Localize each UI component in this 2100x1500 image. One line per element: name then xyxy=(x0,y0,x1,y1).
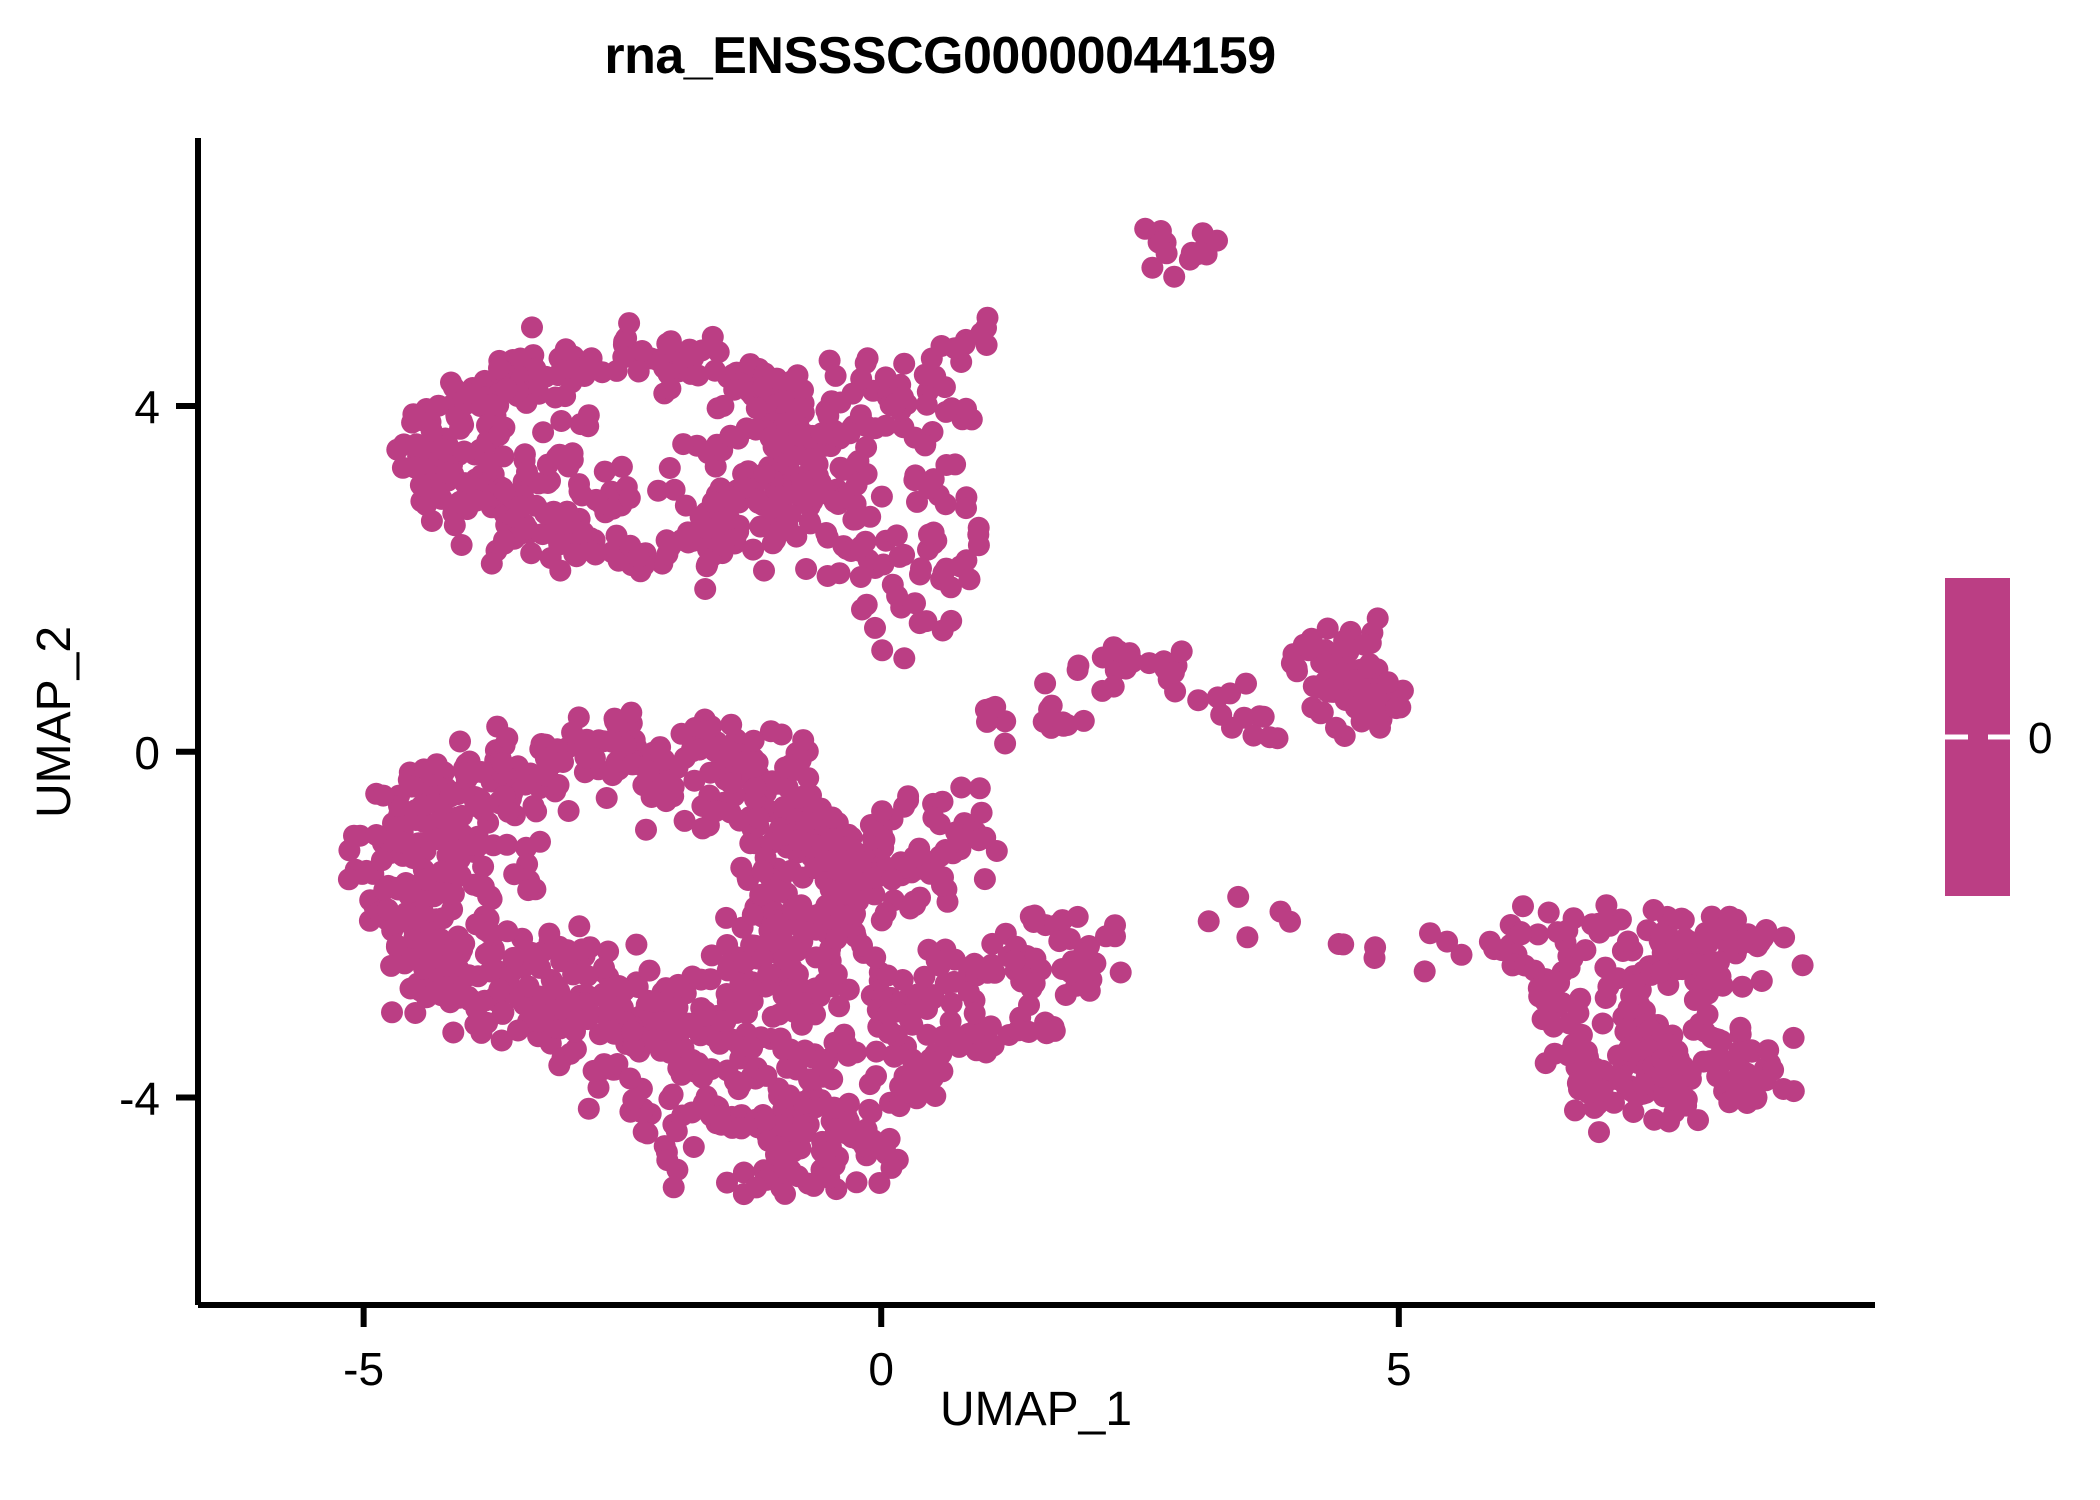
scatter-point xyxy=(789,425,811,447)
scatter-point xyxy=(1666,1074,1688,1096)
scatter-point xyxy=(971,802,993,824)
scatter-point xyxy=(1034,672,1056,694)
scatter-point xyxy=(768,1003,790,1025)
scatter-point xyxy=(662,1084,684,1106)
scatter-point xyxy=(683,1136,705,1158)
scatter-point xyxy=(1564,1099,1586,1121)
scatter-point xyxy=(1163,662,1185,684)
scatter-point xyxy=(373,879,395,901)
scatter-point xyxy=(727,1073,749,1095)
scatter-point xyxy=(1597,976,1619,998)
scatter-point xyxy=(1674,928,1696,950)
scatter-point xyxy=(719,425,741,447)
scatter-point xyxy=(569,480,591,502)
scatter-point xyxy=(1725,1084,1747,1106)
scatter-point xyxy=(546,447,568,469)
figure-root: rna_ENSSSCG00000044159 -404 -505 UMAP_1 … xyxy=(0,0,2100,1500)
scatter-point xyxy=(1755,919,1777,941)
scatter-point xyxy=(1588,1121,1610,1143)
y-axis-tick-labels: -404 xyxy=(119,381,160,1125)
scatter-point xyxy=(1577,1082,1599,1104)
scatter-point xyxy=(846,1171,868,1193)
scatter-point xyxy=(968,829,990,851)
scatter-point xyxy=(555,338,577,360)
scatter-point xyxy=(963,953,985,975)
scatter-point xyxy=(1033,711,1055,733)
scatter-point xyxy=(935,401,957,423)
scatter-point xyxy=(463,874,485,896)
scatter-point xyxy=(529,831,551,853)
scatter-point xyxy=(892,969,914,991)
scatter-point xyxy=(1055,984,1077,1006)
scatter-point xyxy=(638,760,660,782)
scatter-point xyxy=(1018,994,1040,1016)
scatter-point xyxy=(934,376,956,398)
scatter-point xyxy=(443,883,465,905)
scatter-point xyxy=(699,762,721,784)
scatter-point xyxy=(1385,697,1407,719)
scatter-point xyxy=(1656,1055,1678,1077)
scatter-point xyxy=(687,365,709,387)
scatter-point xyxy=(1773,1078,1795,1100)
scatter-point xyxy=(496,834,518,856)
scatter-point xyxy=(959,568,981,590)
scatter-point xyxy=(356,860,378,882)
scatter-point xyxy=(663,1176,685,1198)
scatter-point xyxy=(1024,905,1046,927)
scatter-point xyxy=(909,612,931,634)
scatter-point xyxy=(955,497,977,519)
scatter-point xyxy=(532,421,554,443)
scatter-point xyxy=(935,493,957,515)
scatter-point xyxy=(824,491,846,513)
scatter-point xyxy=(550,410,572,432)
scatter-point xyxy=(696,553,718,575)
scatter-point xyxy=(828,995,850,1017)
scatter-point xyxy=(1359,653,1381,675)
scatter-point xyxy=(1746,1086,1768,1108)
scatter-point xyxy=(386,439,408,461)
scatter-point xyxy=(1044,1020,1066,1042)
scatter-point xyxy=(785,1059,807,1081)
scatter-point xyxy=(405,907,427,929)
scatter-point xyxy=(421,510,443,532)
scatter-point xyxy=(924,1085,946,1107)
scatter-point xyxy=(667,997,689,1019)
scatter-point xyxy=(496,378,518,400)
scatter-point xyxy=(494,480,516,502)
scatter-point xyxy=(431,861,453,883)
scatter-point xyxy=(1243,725,1265,747)
scatter-point xyxy=(1067,655,1089,677)
scatter-point xyxy=(935,839,957,861)
scatter-point xyxy=(574,365,596,387)
scatter-point xyxy=(643,990,665,1012)
scatter-point xyxy=(702,326,724,348)
scatter-point xyxy=(893,647,915,669)
scatter-point xyxy=(839,883,861,905)
scatter-point xyxy=(787,759,809,781)
scatter-point xyxy=(365,824,387,846)
scatter-point xyxy=(496,727,518,749)
scatter-point xyxy=(400,978,422,1000)
umap-scatter-plot: -404 -505 UMAP_1 UMAP_2 0 xyxy=(0,0,2100,1500)
scatter-point xyxy=(931,335,953,357)
scatter-point xyxy=(1512,895,1534,917)
scatter-point xyxy=(969,777,991,799)
legend-tick-label: 0 xyxy=(2028,714,2052,763)
scatter-point xyxy=(855,352,877,374)
scatter-point xyxy=(448,491,470,513)
scatter-point xyxy=(584,747,606,769)
scatter-point xyxy=(510,496,532,518)
scatter-point xyxy=(538,923,560,945)
scatter-point xyxy=(1567,1002,1589,1024)
scatter-point xyxy=(520,542,542,564)
scatter-point xyxy=(893,353,915,375)
scatter-point xyxy=(457,383,479,405)
scatter-point xyxy=(745,1176,767,1198)
scatter-point xyxy=(770,1028,792,1050)
scatter-point xyxy=(975,1042,997,1064)
scatter-point xyxy=(1723,933,1745,955)
scatter-point xyxy=(811,422,833,444)
scatter-point xyxy=(381,1001,403,1023)
scatter-point xyxy=(461,989,483,1011)
scatter-point xyxy=(577,1008,599,1030)
scatter-point xyxy=(1362,683,1384,705)
scatter-point xyxy=(901,1048,923,1070)
scatter-point xyxy=(372,785,394,807)
scatter-point xyxy=(846,474,868,496)
scatter-point xyxy=(401,776,423,798)
scatter-point xyxy=(1325,717,1347,739)
scatter-point xyxy=(696,517,718,539)
scatter-point xyxy=(839,422,861,444)
x-axis-ticks xyxy=(364,1305,1399,1327)
scatter-point xyxy=(1592,1013,1614,1035)
scatter-point xyxy=(514,774,536,796)
scatter-point xyxy=(941,992,963,1014)
scatter-point xyxy=(1731,976,1753,998)
scatter-point xyxy=(1134,218,1156,240)
scatter-point xyxy=(535,747,557,769)
scatter-point xyxy=(707,397,729,419)
scatter-point xyxy=(1658,1111,1680,1133)
scatter-point xyxy=(916,394,938,416)
x-axis-tick-labels: -505 xyxy=(343,1343,1411,1395)
scatter-point xyxy=(826,963,848,985)
scatter-point xyxy=(1171,640,1193,662)
scatter-point xyxy=(789,397,811,419)
scatter-point xyxy=(889,546,911,568)
scatter-point xyxy=(619,1068,641,1090)
scatter-point xyxy=(507,1020,529,1042)
scatter-point xyxy=(533,1004,555,1026)
scatter-point xyxy=(659,457,681,479)
scatter-point xyxy=(488,357,510,379)
scatter-point xyxy=(619,487,641,509)
scatter-point xyxy=(635,819,657,841)
scatter-point xyxy=(877,1003,899,1025)
scatter-point xyxy=(525,800,547,822)
scatter-point xyxy=(715,907,737,929)
scatter-point xyxy=(871,800,893,822)
scatter-point xyxy=(1436,931,1458,953)
scatter-point xyxy=(488,979,510,1001)
scatter-point xyxy=(1479,931,1501,953)
scatter-point xyxy=(1544,1043,1566,1065)
scatter-point xyxy=(720,772,742,794)
scatter-point xyxy=(859,506,881,528)
scatter-point xyxy=(453,933,475,955)
scatter-point xyxy=(795,558,817,580)
scatter-point xyxy=(1609,1069,1631,1091)
scatter-point xyxy=(753,560,775,582)
scatter-point xyxy=(1110,962,1132,984)
x-axis-title: UMAP_1 xyxy=(940,1383,1132,1436)
scatter-point xyxy=(424,981,446,1003)
scatter-point xyxy=(1332,933,1354,955)
x-axis-tick-label: 0 xyxy=(868,1343,894,1395)
scatter-point xyxy=(781,370,803,392)
scatter-point xyxy=(764,529,786,551)
scatter-point xyxy=(1556,920,1578,942)
scatter-point xyxy=(410,474,432,496)
scatter-point xyxy=(1187,689,1209,711)
scatter-point xyxy=(918,524,940,546)
scatter-point xyxy=(518,975,540,997)
scatter-point xyxy=(804,485,826,507)
scatter-point xyxy=(659,378,681,400)
scatter-point xyxy=(1623,975,1645,997)
scatter-point xyxy=(468,795,490,817)
scatter-point xyxy=(1364,947,1386,969)
scatter-point xyxy=(413,958,435,980)
y-axis-tick-label: -4 xyxy=(119,1073,160,1125)
scatter-point xyxy=(1729,1017,1751,1039)
scatter-point xyxy=(878,1022,900,1044)
scatter-point xyxy=(493,529,515,551)
scatter-point xyxy=(742,904,764,926)
scatter-point xyxy=(1301,628,1323,650)
scatter-point xyxy=(903,891,925,913)
scatter-point xyxy=(1024,972,1046,994)
scatter-point xyxy=(1619,1036,1641,1058)
scatter-point xyxy=(916,998,938,1020)
scatter-point xyxy=(833,1121,855,1143)
scatter-point xyxy=(578,1098,600,1120)
scatter-point xyxy=(766,1136,788,1158)
scatter-point xyxy=(871,909,893,931)
scatter-point xyxy=(622,1089,644,1111)
scatter-point xyxy=(864,617,886,639)
scatter-point xyxy=(1687,1109,1709,1131)
scatter-point xyxy=(1104,914,1126,936)
scatter-point xyxy=(1581,913,1603,935)
scatter-point xyxy=(584,544,606,566)
scatter-point xyxy=(1618,998,1640,1020)
scatter-point xyxy=(1673,909,1695,931)
scatter-point xyxy=(671,1019,693,1041)
scatter-point xyxy=(742,539,764,561)
scatter-point xyxy=(426,753,448,775)
scatter-point xyxy=(497,801,519,823)
scatter-point xyxy=(411,795,433,817)
scatter-point xyxy=(1320,678,1342,700)
scatter-point xyxy=(1141,257,1163,279)
scatter-point xyxy=(871,639,893,661)
scatter-point xyxy=(517,879,539,901)
scatter-point xyxy=(1179,249,1201,271)
scatter-point xyxy=(442,1022,464,1044)
scatter-point xyxy=(864,417,886,439)
scatter-point xyxy=(1004,950,1026,972)
scatter-point xyxy=(910,557,932,579)
scatter-point xyxy=(753,463,775,485)
scatter-point xyxy=(815,895,837,917)
scatter-point xyxy=(1164,681,1186,703)
scatter-point xyxy=(906,491,928,513)
scatter-point xyxy=(720,714,742,736)
scatter-point xyxy=(705,800,727,822)
scatter-point xyxy=(548,533,570,555)
scatter-point xyxy=(745,777,767,799)
scatter-point xyxy=(837,1045,859,1067)
scatter-point xyxy=(897,789,919,811)
scatter-point xyxy=(571,938,593,960)
scatter-point xyxy=(1122,651,1144,673)
scatter-point xyxy=(650,1040,672,1062)
scatter-point xyxy=(730,1117,752,1139)
scatter-point xyxy=(886,585,908,607)
scatter-point xyxy=(782,898,804,920)
scatter-point xyxy=(546,976,568,998)
scatter-point xyxy=(825,365,847,387)
scatter-point xyxy=(449,731,471,753)
scatter-point xyxy=(401,412,423,434)
scatter-point xyxy=(1367,607,1389,629)
scatter-point xyxy=(388,831,410,853)
scatter-point xyxy=(447,840,469,862)
scatter-point xyxy=(1286,657,1308,679)
scatter-point xyxy=(1792,954,1814,976)
scatter-point xyxy=(521,316,543,338)
scatter-point xyxy=(886,524,908,546)
scatter-point xyxy=(694,578,716,600)
scatter-point xyxy=(1253,706,1275,728)
scatter-point xyxy=(974,868,996,890)
scatter-point xyxy=(1723,1050,1745,1072)
scatter-point xyxy=(625,934,647,956)
scatter-point xyxy=(746,398,768,420)
scatter-point xyxy=(1576,1041,1598,1063)
scatter-point xyxy=(593,1053,615,1075)
scatter-point xyxy=(1603,1092,1625,1114)
x-axis-tick-label: 5 xyxy=(1386,1343,1412,1395)
scatter-point xyxy=(975,699,997,721)
scatter-point xyxy=(611,456,633,478)
scatter-point xyxy=(712,534,734,556)
scatter-point xyxy=(924,1052,946,1074)
scatter-point xyxy=(449,418,471,440)
scatter-point xyxy=(1643,899,1665,921)
scatter-point xyxy=(1353,634,1375,656)
scatter-point xyxy=(1617,931,1639,953)
scatter-point xyxy=(618,312,640,334)
scatter-point xyxy=(343,825,365,847)
scatter-point xyxy=(1548,972,1570,994)
scatter-point xyxy=(1538,902,1560,924)
scatter-point xyxy=(677,521,699,543)
scatter-point xyxy=(714,1011,736,1033)
scatter-point xyxy=(950,1033,972,1055)
scatter-point xyxy=(600,999,622,1021)
scatter-point xyxy=(850,566,872,588)
scatter-point xyxy=(955,398,977,420)
scatter-point xyxy=(914,434,936,456)
scatter-point xyxy=(919,863,941,885)
scatter-point xyxy=(695,1005,717,1027)
scatter-point xyxy=(787,787,809,809)
scatter-point xyxy=(671,723,693,745)
scatter-point xyxy=(481,553,503,575)
scatter-point xyxy=(1683,1019,1705,1041)
scatter-point xyxy=(732,751,754,773)
scatter-point xyxy=(769,486,791,508)
scatter-point xyxy=(437,462,459,484)
scatter-point xyxy=(826,928,848,950)
scatter-point xyxy=(1073,710,1095,732)
scatter-point xyxy=(964,1002,986,1024)
scatter-point xyxy=(1018,1021,1040,1043)
scatter-point xyxy=(754,1110,776,1132)
scatter-point xyxy=(1024,948,1046,970)
scatter-point xyxy=(451,534,473,556)
scatter-point xyxy=(923,468,945,490)
scatter-point xyxy=(664,479,686,501)
y-axis-tick-label: 0 xyxy=(134,727,160,779)
scatter-point xyxy=(926,950,948,972)
y-axis-tick-label: 4 xyxy=(134,381,160,433)
scatter-point xyxy=(674,810,696,832)
scatter-point xyxy=(794,1122,816,1144)
scatter-point xyxy=(868,1172,890,1194)
scatter-point xyxy=(488,424,510,446)
scatter-point xyxy=(1092,647,1114,669)
scatter-point xyxy=(1510,923,1532,945)
scatter-point xyxy=(1697,933,1719,955)
scatter-point xyxy=(1079,980,1101,1002)
scatter-point xyxy=(1279,911,1301,933)
scatter-point xyxy=(774,1183,796,1205)
scatter-point xyxy=(757,963,779,985)
scatter-point xyxy=(1077,959,1099,981)
scatter-point xyxy=(1414,960,1436,982)
scatter-point xyxy=(421,420,443,442)
scatter-point xyxy=(829,392,851,414)
scatter-point xyxy=(1783,1027,1805,1049)
scatter-point xyxy=(386,935,408,957)
scatter-point xyxy=(516,517,538,539)
scatter-point xyxy=(492,752,514,774)
scatter-point xyxy=(656,333,678,355)
scatter-point xyxy=(399,881,421,903)
scatter-point xyxy=(568,915,590,937)
scatter-point xyxy=(544,387,566,409)
scatter-point xyxy=(1751,970,1773,992)
y-axis-ticks xyxy=(176,406,198,1098)
